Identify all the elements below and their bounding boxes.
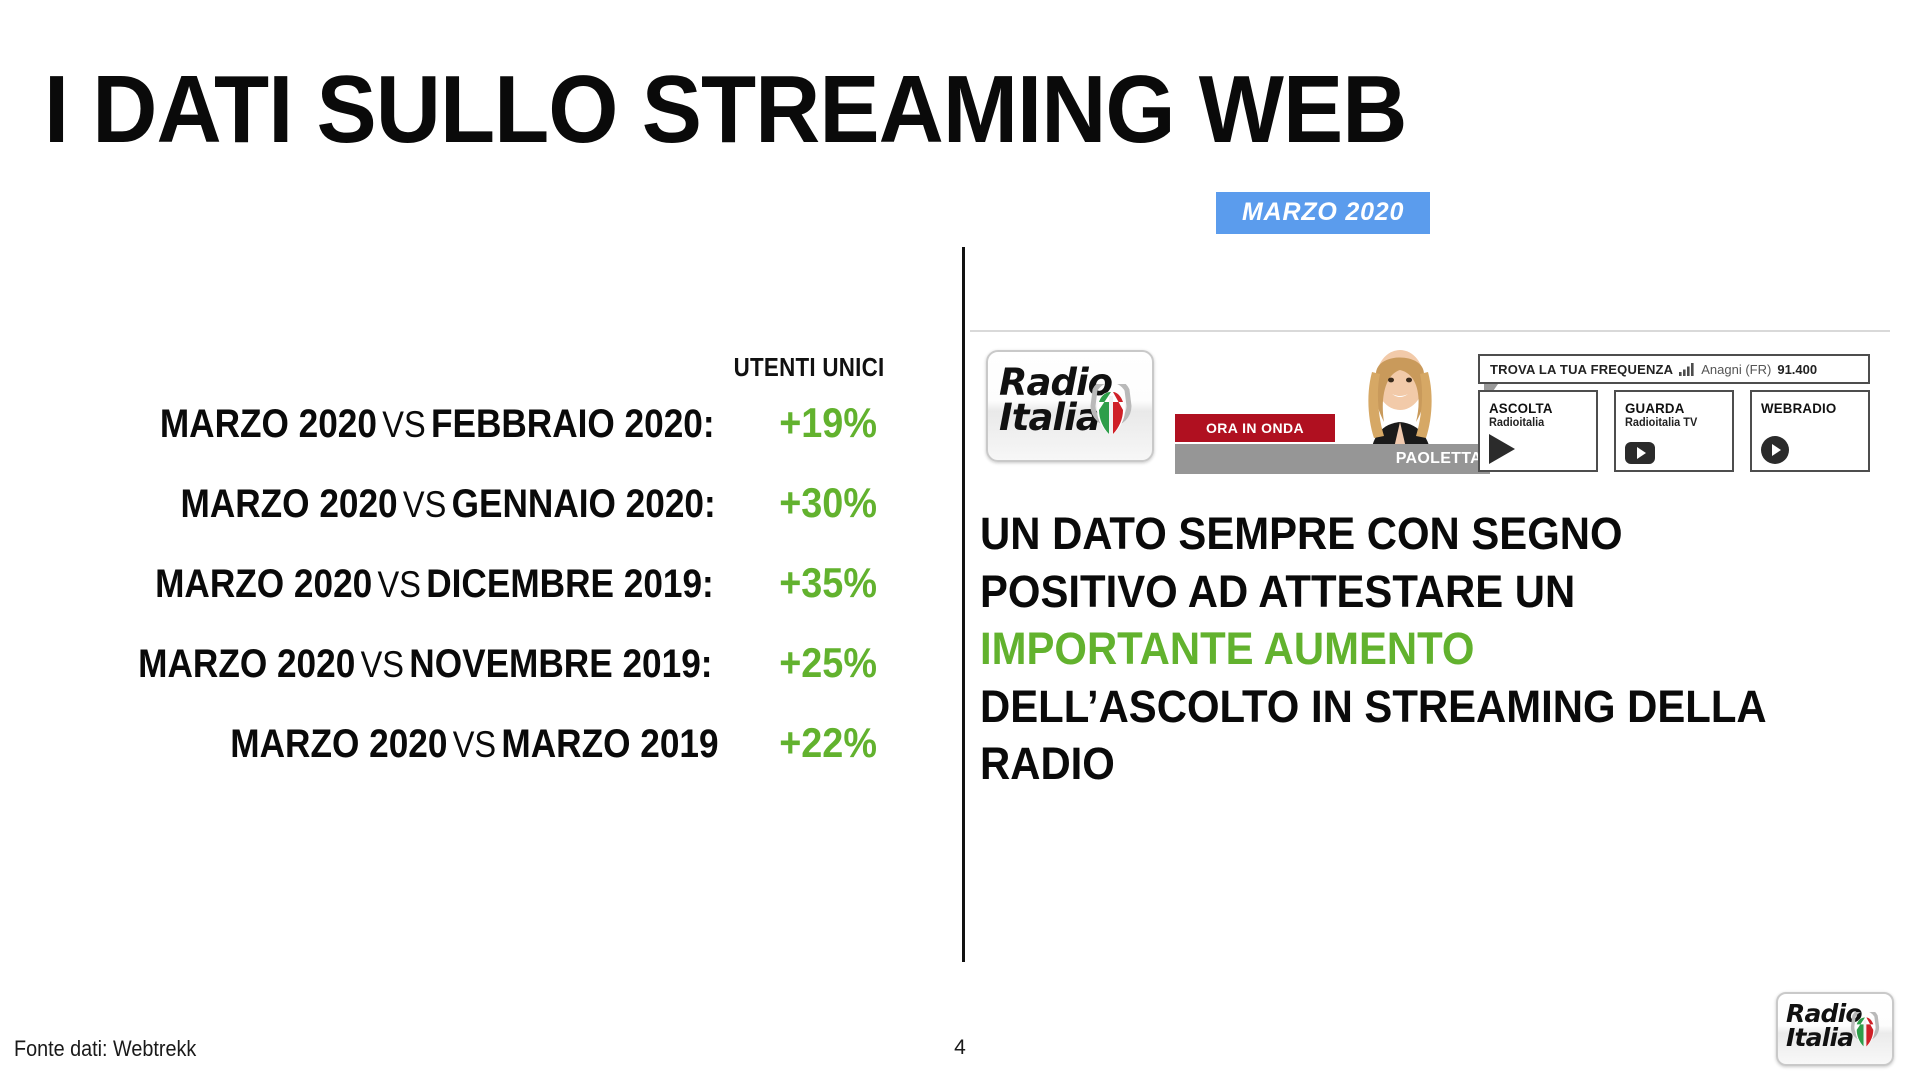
stat-label: MARZO 2020VSMARZO 2019 (230, 722, 718, 767)
stat-value: +35% (759, 559, 892, 607)
page-title: I DATI SULLO STREAMING WEB (44, 62, 1407, 158)
message-highlight: IMPORTANTE AUMENTO (980, 620, 1798, 678)
slide-canvas: I DATI SULLO STREAMING WEB MARZO 2020 UT… (0, 0, 1920, 1080)
stat-base: MARZO 2020 (159, 402, 376, 446)
frequency-label: TROVA LA TUA FREQUENZA (1490, 362, 1673, 377)
stat-label: MARZO 2020VSNOVEMBRE 2019: (138, 642, 712, 687)
stat-vs: VS (397, 484, 451, 525)
card-title: ASCOLTA (1489, 400, 1582, 416)
vertical-divider (962, 247, 965, 962)
headphone-shield-icon (1085, 384, 1137, 442)
stat-value: +19% (759, 399, 892, 447)
youtube-play-icon[interactable] (1625, 442, 1655, 464)
card-subtitle: Radioitalia (1489, 417, 1582, 429)
stat-vs: VS (356, 644, 410, 685)
message-block: UN DATO SEMPRE CON SEGNO POSITIVO AD ATT… (980, 505, 1798, 793)
message-line-1: UN DATO SEMPRE CON SEGNO (980, 505, 1798, 563)
message-line-2: POSITIVO AD ATTESTARE UN (980, 563, 1798, 621)
stat-vs: VS (372, 564, 426, 605)
message-line-4: RADIO (980, 735, 1798, 793)
card-title: WEBRADIO (1761, 400, 1854, 416)
frequency-finder-bar[interactable]: TROVA LA TUA FREQUENZA Anagni (FR) 91.40… (1478, 354, 1870, 384)
radio-player-widget: Radio Italia (970, 330, 1890, 478)
stat-compare: FEBBRAIO 2020: (431, 402, 715, 446)
stat-compare: NOVEMBRE 2019: (410, 642, 713, 686)
stat-label: MARZO 2020VSDICEMBRE 2019: (155, 562, 714, 607)
stat-row: MARZO 2020VSGENNAIO 2020: +30% (0, 479, 900, 559)
frequency-value: 91.400 (1777, 362, 1817, 377)
player-action-cards: ASCOLTA Radioitalia GUARDA Radioitalia T… (1478, 390, 1870, 472)
stat-base: MARZO 2020 (180, 482, 397, 526)
stat-row: MARZO 2020VSFEBBRAIO 2020: +19% (0, 399, 900, 479)
card-webradio[interactable]: WEBRADIO (1750, 390, 1870, 472)
stat-label: MARZO 2020VSGENNAIO 2020: (180, 482, 715, 527)
stats-column-header: UTENTI UNICI (126, 352, 900, 383)
stat-label: MARZO 2020VSFEBBRAIO 2020: (159, 402, 714, 447)
stat-compare: GENNAIO 2020: (451, 482, 715, 526)
card-ascolta[interactable]: ASCOLTA Radioitalia (1478, 390, 1598, 472)
stat-compare: DICEMBRE 2019: (426, 562, 714, 606)
footer-radio-italia-logo: Radio Italia (1776, 992, 1894, 1066)
card-subtitle: Radioitalia TV (1625, 417, 1718, 429)
page-number: 4 (0, 1036, 1920, 1060)
on-air-badge: ORA IN ONDA (1175, 414, 1335, 442)
card-title: GUARDA (1625, 400, 1718, 416)
radio-italia-logo: Radio Italia (986, 350, 1154, 462)
stat-base: MARZO 2020 (138, 642, 355, 686)
stat-compare: MARZO 2019 (502, 722, 719, 766)
headphone-shield-icon (1847, 1012, 1883, 1052)
message-line-3: DELL’ASCOLTO IN STREAMING DELLA (980, 678, 1798, 736)
stat-vs: VS (377, 404, 431, 445)
stat-base: MARZO 2020 (155, 562, 372, 606)
stat-row: MARZO 2020VSNOVEMBRE 2019: +25% (0, 639, 900, 719)
circle-play-icon[interactable] (1761, 436, 1789, 464)
card-guarda[interactable]: GUARDA Radioitalia TV (1614, 390, 1734, 472)
stat-value: +25% (759, 639, 892, 687)
triangle-play-icon[interactable] (1489, 434, 1515, 464)
stats-list: UTENTI UNICI MARZO 2020VSFEBBRAIO 2020: … (0, 352, 900, 799)
host-name: PAOLETTA (1396, 444, 1482, 474)
stat-value: +30% (759, 479, 892, 527)
stat-value: +22% (759, 719, 892, 767)
frequency-city: Anagni (FR) (1701, 362, 1771, 377)
stat-base: MARZO 2020 (230, 722, 447, 766)
stat-row: MARZO 2020VSMARZO 2019 +22% (0, 719, 900, 799)
stat-row: MARZO 2020VSDICEMBRE 2019: +35% (0, 559, 900, 639)
host-name-bar: PAOLETTA (1175, 444, 1490, 474)
stat-vs: VS (448, 724, 502, 765)
period-badge: MARZO 2020 (1216, 192, 1430, 234)
signal-bars-icon (1679, 363, 1695, 376)
